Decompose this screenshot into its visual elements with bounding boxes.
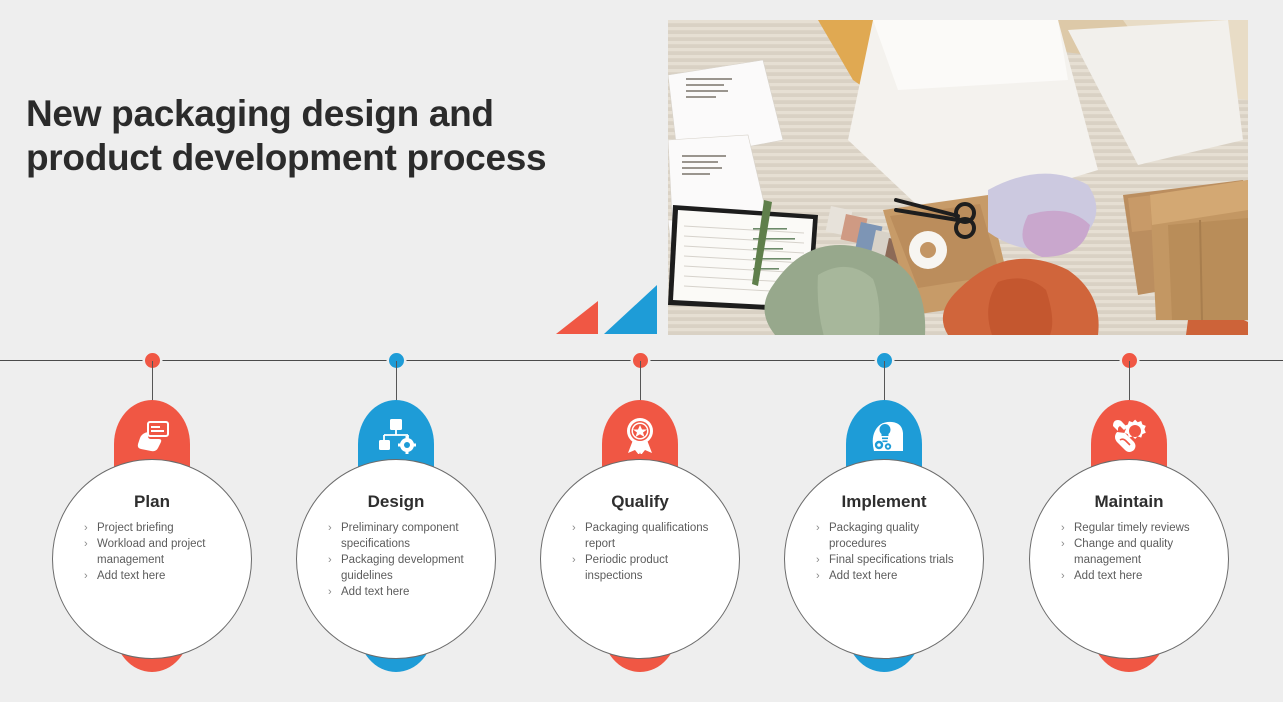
step-maintain-bullets: ›Regular timely reviews ›Change and qual… (1045, 520, 1213, 584)
bullet-chevron-icon: › (816, 520, 829, 552)
step-maintain-title: Maintain (1095, 492, 1164, 512)
bullet-chevron-icon: › (1061, 520, 1074, 536)
hierarchy-gear-icon (376, 414, 416, 454)
bullet-chevron-icon: › (328, 584, 341, 600)
list-item: ›Change and quality management (1061, 536, 1213, 568)
step-design-bubble: Design ›Preliminary component specificat… (296, 459, 496, 659)
list-item: ›Add text here (328, 584, 480, 600)
bullet-chevron-icon: › (328, 520, 341, 552)
step-design-bullets: ›Preliminary component specifications ›P… (312, 520, 480, 600)
bullet-chevron-icon: › (572, 552, 585, 584)
step-qualify-bullets: ›Packaging qualifications report ›Period… (556, 520, 724, 584)
list-item: ›Workload and project management (84, 536, 236, 568)
list-item: ›Add text here (1061, 568, 1213, 584)
list-item: ›Final specifications trials (816, 552, 968, 568)
bullet-chevron-icon: › (572, 520, 585, 552)
step-implement-bullets: ›Packaging quality procedures ›Final spe… (800, 520, 968, 584)
list-item: ›Packaging development guidelines (328, 552, 480, 584)
bullet-chevron-icon: › (84, 520, 97, 536)
list-item: ›Packaging quality procedures (816, 520, 968, 552)
bullet-chevron-icon: › (1061, 568, 1074, 584)
step-plan-bubble: Plan ›Project briefing ›Workload and pro… (52, 459, 252, 659)
accent-triangle-blue (604, 285, 657, 334)
bullet-chevron-icon: › (84, 536, 97, 568)
list-item: ›Packaging qualifications report (572, 520, 724, 552)
step-implement-bubble: Implement ›Packaging quality procedures … (784, 459, 984, 659)
step-plan-title: Plan (134, 492, 170, 512)
page-title: New packaging design and product develop… (26, 92, 626, 180)
bullet-chevron-icon: › (1061, 536, 1074, 568)
award-ribbon-icon (620, 414, 660, 454)
list-item: ›Add text here (84, 568, 236, 584)
bullet-chevron-icon: › (816, 552, 829, 568)
step-qualify-bubble: Qualify ›Packaging qualifications report… (540, 459, 740, 659)
page-title-line-1: New packaging design and (26, 92, 626, 136)
bullet-chevron-icon: › (84, 568, 97, 584)
list-item: ›Regular timely reviews (1061, 520, 1213, 536)
accent-triangle-red (556, 301, 598, 334)
hand-holding-card-icon (132, 414, 172, 454)
list-item: ›Add text here (816, 568, 968, 584)
bullet-chevron-icon: › (816, 568, 829, 584)
slide-canvas: New packaging design and product develop… (0, 0, 1283, 702)
list-item: ›Preliminary component specifications (328, 520, 480, 552)
step-implement-title: Implement (841, 492, 926, 512)
step-maintain-bubble: Maintain ›Regular timely reviews ›Change… (1029, 459, 1229, 659)
hand-wrench-gear-icon (1109, 414, 1149, 454)
page-title-line-2: product development process (26, 136, 626, 180)
list-item: ›Periodic product inspections (572, 552, 724, 584)
step-plan-bullets: ›Project briefing ›Workload and project … (68, 520, 236, 584)
head-lightbulb-gear-icon (864, 414, 904, 454)
bullet-chevron-icon: › (328, 552, 341, 584)
step-qualify-title: Qualify (611, 492, 669, 512)
hero-photo (668, 20, 1248, 335)
step-design-title: Design (368, 492, 425, 512)
list-item: ›Project briefing (84, 520, 236, 536)
